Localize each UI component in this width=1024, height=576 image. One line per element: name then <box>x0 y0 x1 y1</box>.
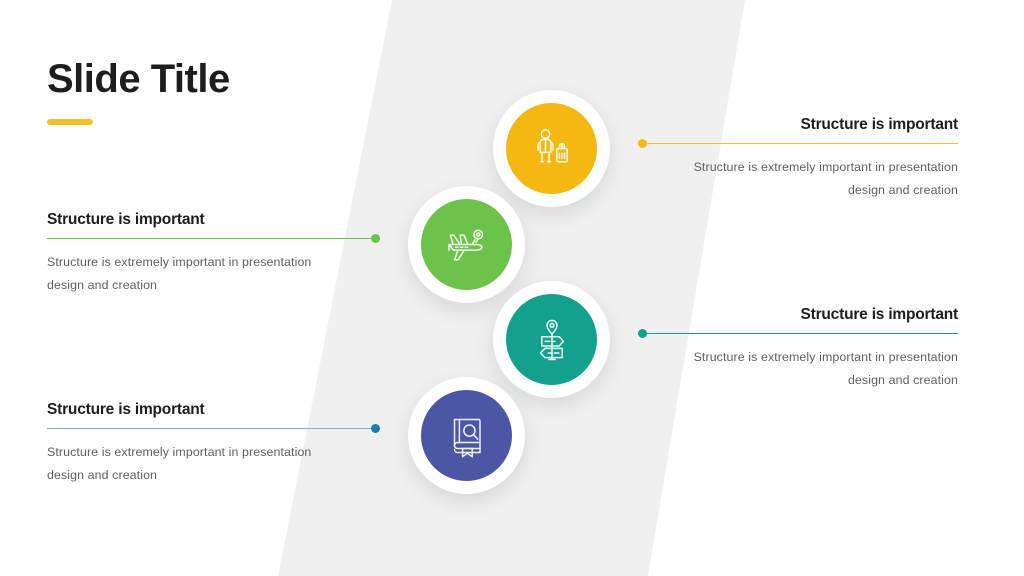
info-body: Structure is extremely important in pres… <box>47 441 347 487</box>
connector-dot <box>638 139 647 148</box>
info-block-right-top: Structure is important Structure is extr… <box>658 116 958 202</box>
connector-dot <box>371 234 380 243</box>
icon-node-airplane[interactable] <box>408 186 525 303</box>
connector-dot <box>638 329 647 338</box>
info-body: Structure is extremely important in pres… <box>47 251 347 297</box>
info-body: Structure is extremely important in pres… <box>658 346 958 392</box>
icon-disc <box>506 103 597 194</box>
title-block: Slide Title <box>47 58 230 125</box>
slide-canvas: Slide Title Structure is important Struc… <box>0 0 1024 576</box>
connector-dot <box>371 424 380 433</box>
page-title: Slide Title <box>47 58 230 100</box>
info-block-left-bottom: Structure is important Structure is extr… <box>47 401 347 487</box>
traveler-luggage-icon <box>528 125 576 173</box>
airplane-pin-icon <box>442 220 492 270</box>
book-search-icon <box>444 412 490 460</box>
title-accent-bar <box>47 119 93 125</box>
icon-disc <box>421 199 512 290</box>
info-heading: Structure is important <box>658 306 958 324</box>
info-block-left-top: Structure is important Structure is extr… <box>47 211 347 297</box>
signpost-pin-icon <box>529 315 575 365</box>
icon-disc <box>421 390 512 481</box>
info-block-right-bottom: Structure is important Structure is extr… <box>658 306 958 392</box>
icon-node-signpost[interactable] <box>493 281 610 398</box>
icon-disc <box>506 294 597 385</box>
icon-node-book[interactable] <box>408 377 525 494</box>
info-heading: Structure is important <box>47 401 347 419</box>
icon-node-traveler[interactable] <box>493 90 610 207</box>
info-heading: Structure is important <box>47 211 347 229</box>
info-heading: Structure is important <box>658 116 958 134</box>
info-body: Structure is extremely important in pres… <box>658 156 958 202</box>
